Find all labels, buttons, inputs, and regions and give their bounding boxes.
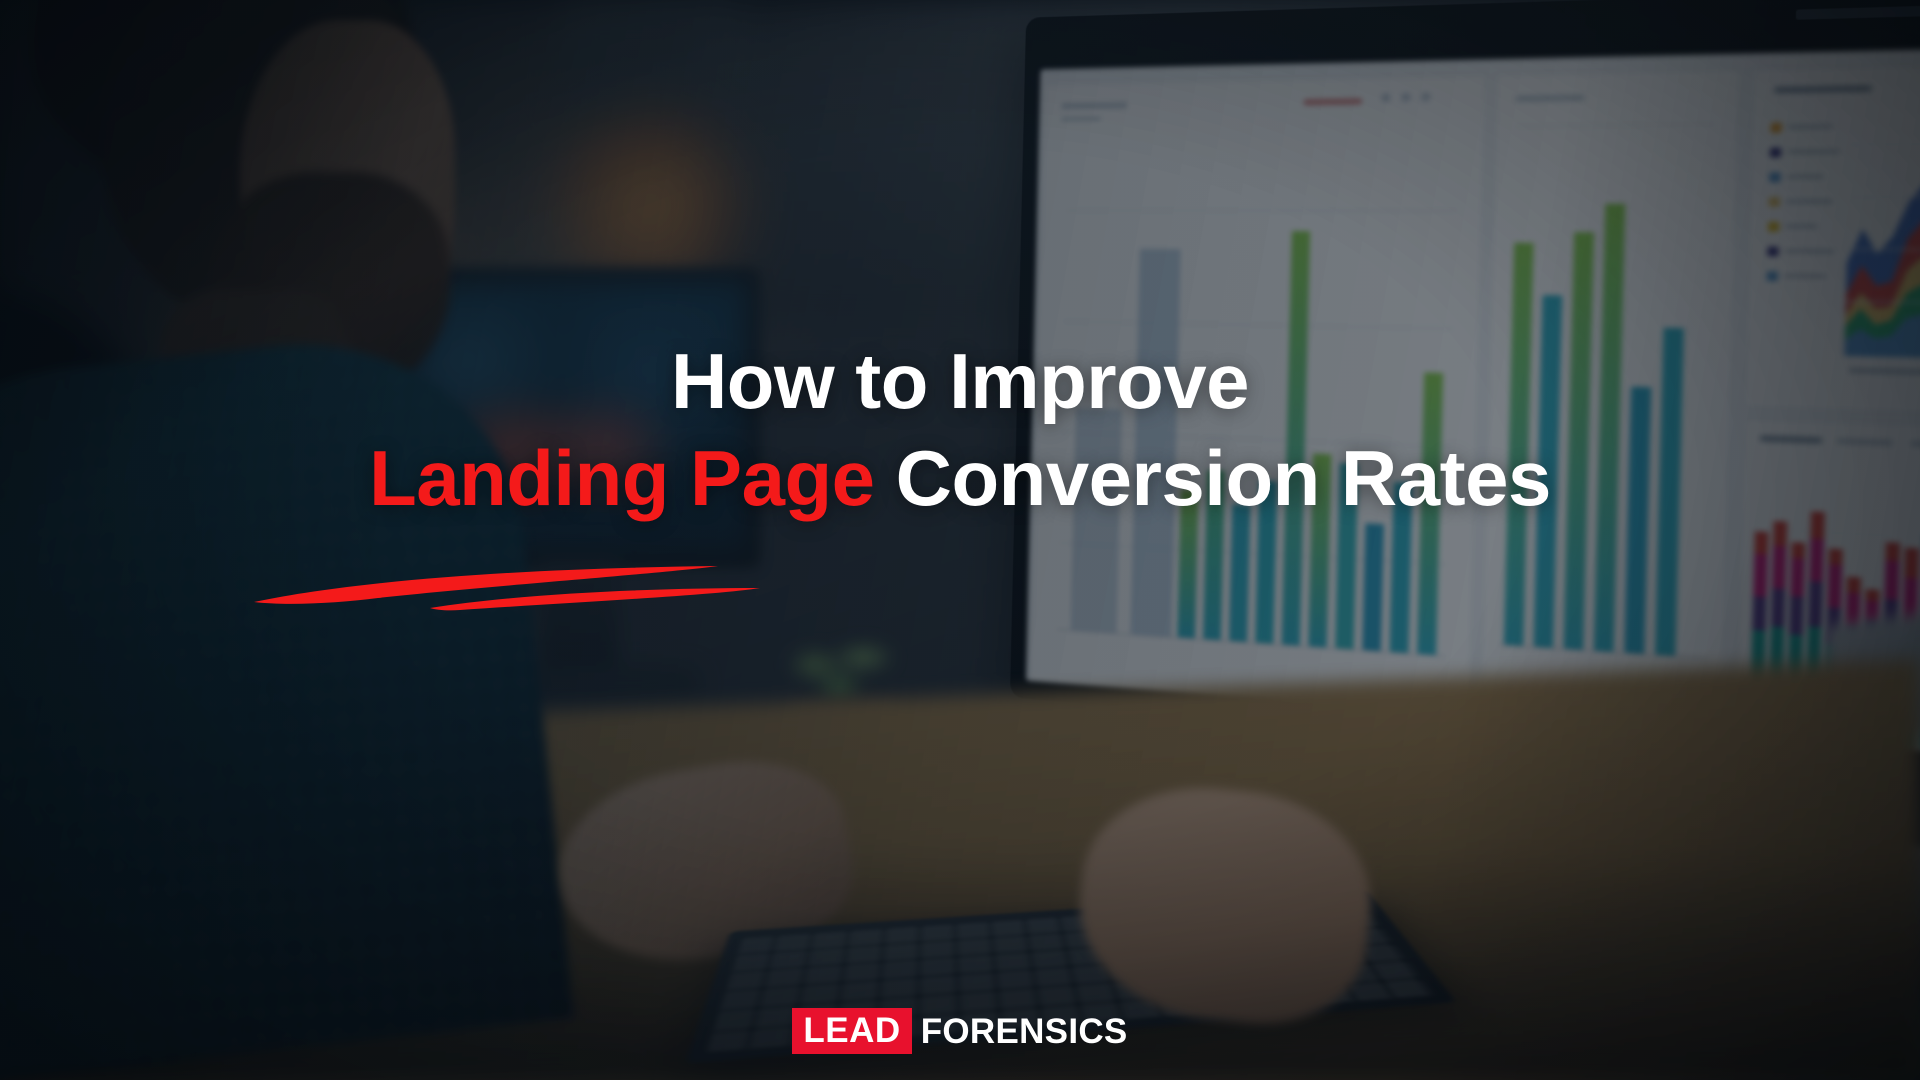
vignette — [0, 0, 1920, 1080]
headline-line-1: How to Improve — [0, 340, 1920, 423]
headline-rest-text: Conversion Rates — [875, 434, 1551, 522]
logo-forensics-word: FORENSICS — [921, 1014, 1128, 1049]
lead-forensics-logo[interactable]: LEAD FORENSICS — [0, 1008, 1920, 1054]
banner-image: How to Improve Landing Page Conversion R… — [0, 0, 1920, 1080]
headline-accent-text: Landing Page — [369, 434, 874, 522]
headline-line-2: Landing Page Conversion Rates — [0, 437, 1920, 520]
headline: How to Improve Landing Page Conversion R… — [0, 340, 1920, 519]
logo-lead-mark: LEAD — [792, 1008, 911, 1054]
